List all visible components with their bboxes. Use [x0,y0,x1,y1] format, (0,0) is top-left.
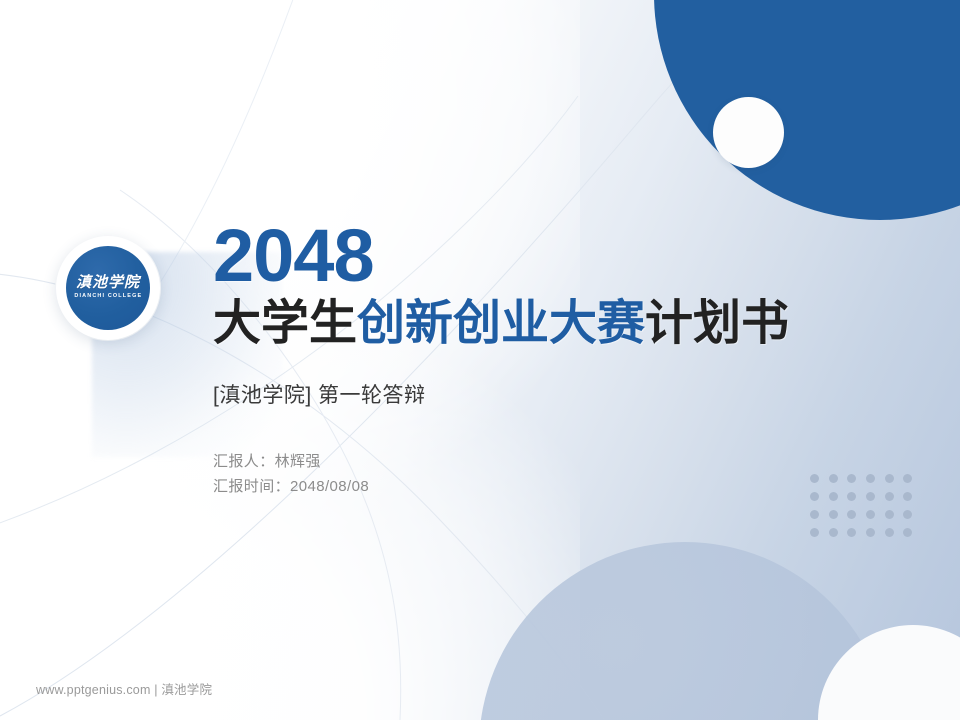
page-title: 大学生创新创业大赛计划书 [213,299,913,349]
presenter-line: 汇报人：林辉强 [213,450,913,474]
school-logo: 滇池学院 DIANCHI COLLEGE [56,236,160,340]
grid-dot [829,528,838,537]
presentation-meta: 汇报人：林辉强 汇报时间：2048/08/08 [213,450,913,499]
date-line: 汇报时间：2048/08/08 [213,475,913,499]
logo-name-cn: 滇池学院 [76,276,140,291]
grid-dot [885,510,894,519]
subtitle: [滇池学院] 第一轮答辩 [213,379,913,409]
grid-dot [903,510,912,519]
grid-dot [866,510,875,519]
grid-dot [829,510,838,519]
logo-name-en: DIANCHI COLLEGE [74,294,142,299]
grid-dot [866,528,875,537]
title-text-block: 2048 大学生创新创业大赛计划书 [滇池学院] 第一轮答辩 汇报人：林辉强 汇… [213,222,913,499]
grid-dot [885,528,894,537]
headline-part-3: 计划书 [645,297,789,350]
grid-dot [847,528,856,537]
grid-dot [810,510,819,519]
grid-dot [847,510,856,519]
grid-dot [810,528,819,537]
headline-part-2: 创新创业大赛 [357,297,645,350]
decorative-white-dot-top [713,97,784,168]
footer-credit: www.pptgenius.com | 滇池学院 [36,679,212,698]
title-slide: 滇池学院 DIANCHI COLLEGE 2048 大学生创新创业大赛计划书 [… [0,0,960,720]
headline-part-1: 大学生 [213,297,357,350]
grid-dot [903,528,912,537]
year-number: 2048 [213,222,913,290]
logo-disc: 滇池学院 DIANCHI COLLEGE [66,246,150,330]
